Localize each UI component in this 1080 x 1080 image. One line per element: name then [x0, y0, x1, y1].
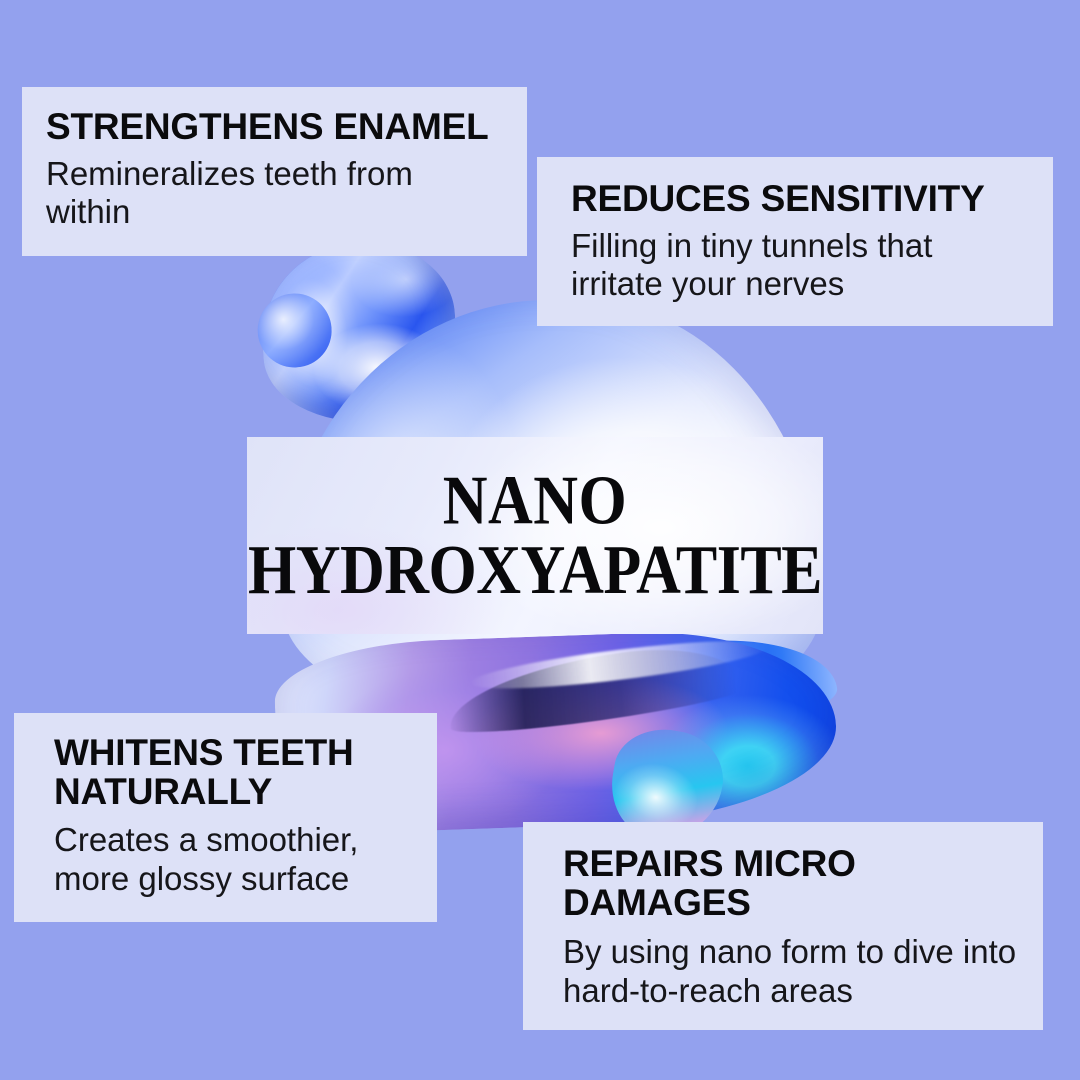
benefit-body: By using nano form to dive into hard-to-… [563, 933, 1019, 1010]
benefit-title: REDUCES SENSITIVITY [571, 179, 1029, 218]
benefit-card-repairs-micro-damages: REPAIRS MICRO DAMAGES By using nano form… [523, 822, 1043, 1030]
benefit-card-reduces-sensitivity: REDUCES SENSITIVITY Filling in tiny tunn… [537, 157, 1053, 326]
benefit-title: REPAIRS MICRO DAMAGES [563, 844, 1019, 922]
hero-title-line-1: NANO [248, 466, 822, 535]
hero-title-card: NANO HYDROXYAPATITE [247, 437, 823, 634]
iridescent-blob-tail-icon [591, 626, 841, 749]
benefit-title: STRENGTHENS ENAMEL [46, 107, 503, 146]
benefit-body: Remineralizes teeth from within [46, 155, 503, 232]
benefit-body: Creates a smoothier, more glossy surface [54, 821, 413, 898]
benefit-card-strengthens-enamel: STRENGTHENS ENAMEL Remineralizes teeth f… [22, 87, 527, 256]
infographic-canvas: STRENGTHENS ENAMEL Remineralizes teeth f… [0, 0, 1080, 1080]
benefit-card-whitens-teeth: WHITENS TEETH NATURALLY Creates a smooth… [14, 713, 437, 922]
gradient-blob-kidney-icon [256, 236, 462, 429]
benefit-title: WHITENS TEETH NATURALLY [54, 733, 413, 811]
benefit-body: Filling in tiny tunnels that irritate yo… [571, 227, 1029, 304]
page-title: NANO HYDROXYAPATITE [238, 466, 832, 605]
hero-title-line-2: HYDROXYAPATITE [248, 536, 822, 605]
